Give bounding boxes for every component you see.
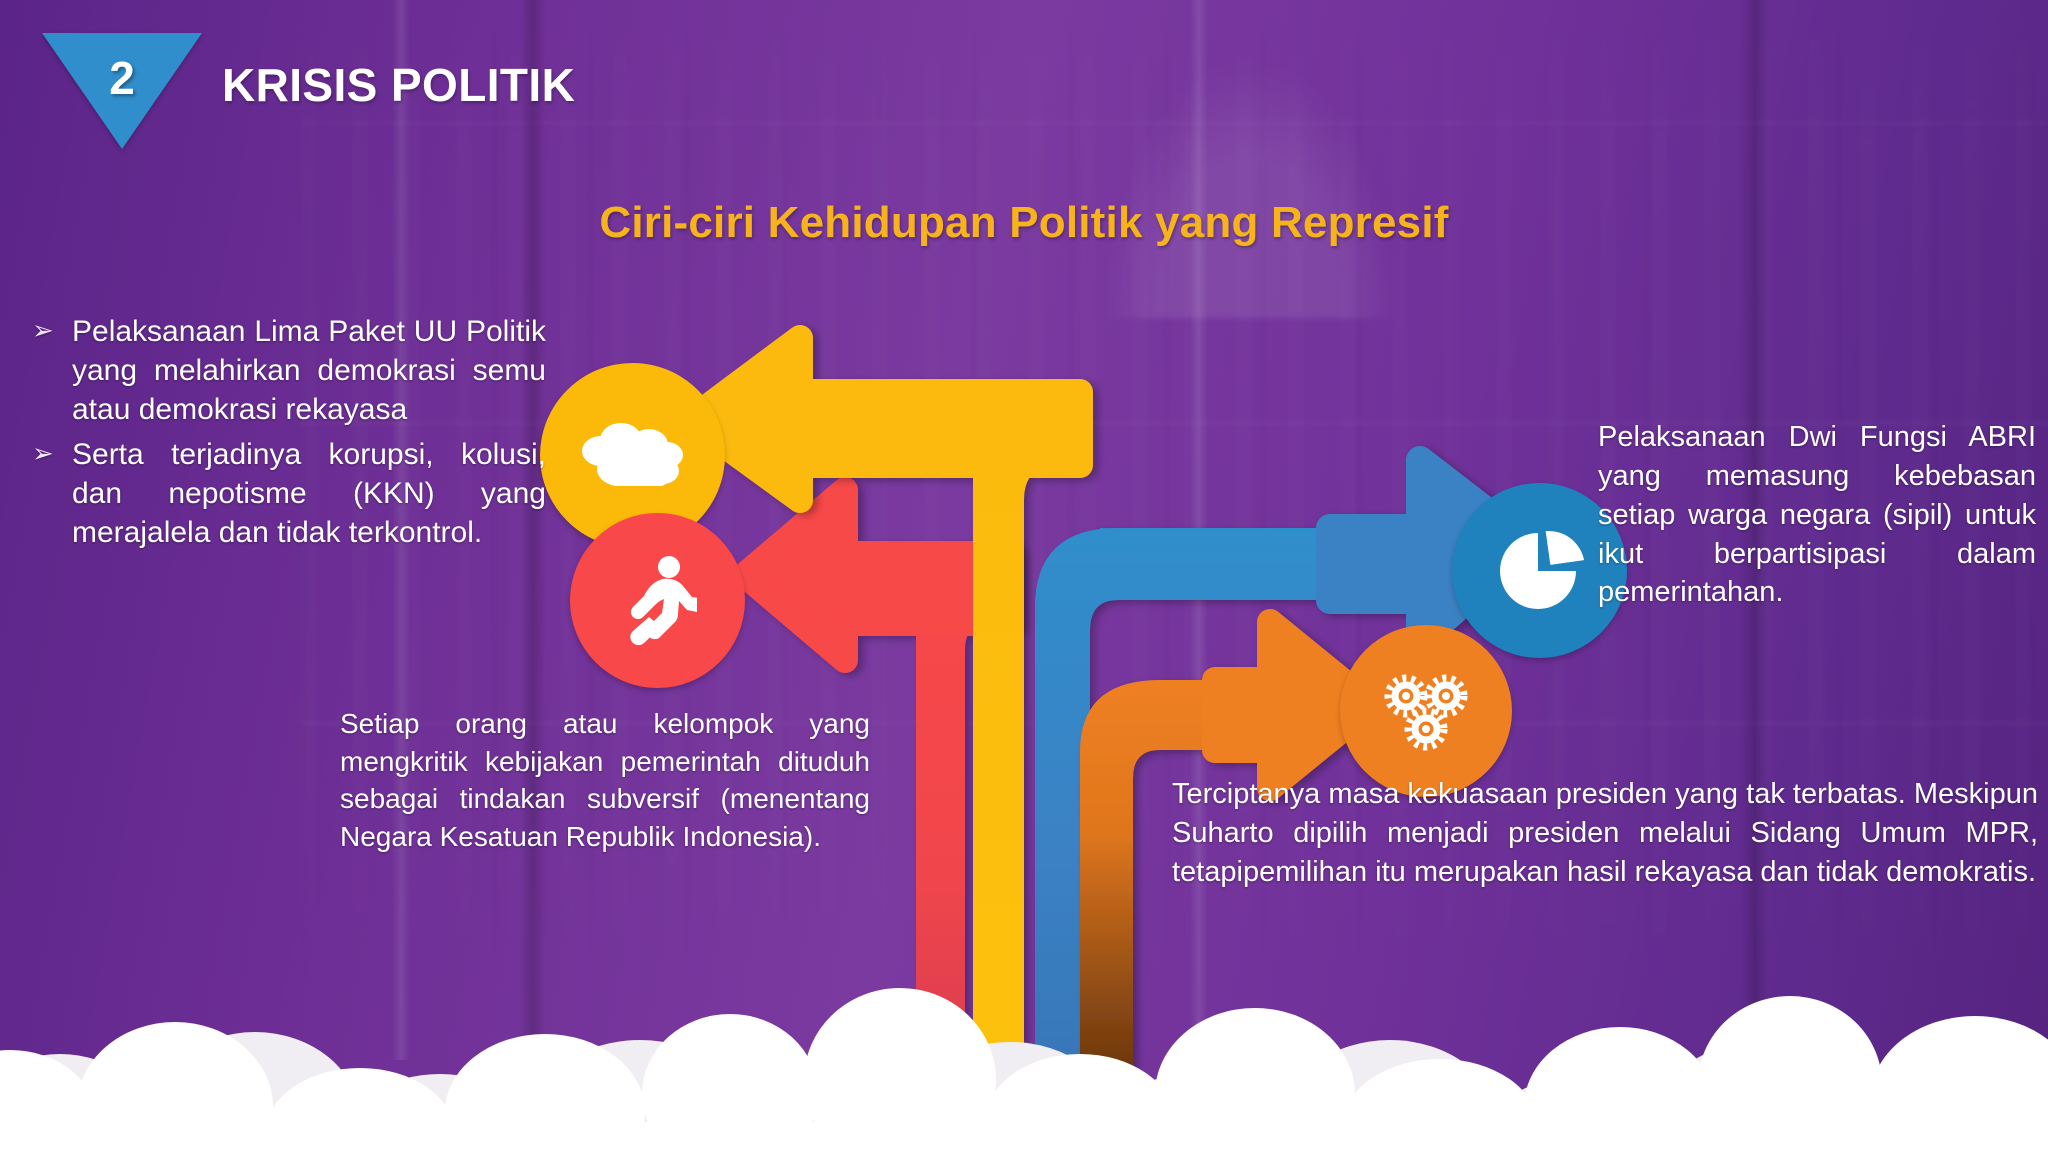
running-person-icon <box>619 555 697 647</box>
list-item: ➢ Serta terjadinya korupsi, kolusi, dan … <box>16 435 546 552</box>
bullet-list: ➢ Pelaksanaan Lima Paket UU Politik yang… <box>16 312 546 558</box>
icon-circle-running-person[interactable] <box>570 513 745 688</box>
callout-bottom-left: Setiap orang atau kelompok yang mengkrit… <box>340 705 870 855</box>
callout-right: Pelaksanaan Dwi Fungsi ABRI yang memasun… <box>1598 418 2036 612</box>
clouds-icon <box>579 417 687 495</box>
pie-chart-icon <box>1494 525 1586 617</box>
cloud-footer-decoration <box>0 972 2048 1152</box>
callout-bottom-right: Terciptanya masa kekuasaan presiden yang… <box>1172 775 2038 892</box>
chevron-bullet-icon: ➢ <box>32 436 54 471</box>
chevron-bullet-icon: ➢ <box>32 313 54 348</box>
list-item: ➢ Pelaksanaan Lima Paket UU Politik yang… <box>16 312 546 429</box>
slide-canvas: 2 KRISIS POLITIK Ciri-ciri Kehidupan Pol… <box>0 0 2048 1152</box>
list-item-text: Pelaksanaan Lima Paket UU Politik yang m… <box>72 315 546 426</box>
gears-icon <box>1376 663 1476 759</box>
list-item-text: Serta terjadinya korupsi, kolusi, dan ne… <box>72 438 546 549</box>
icon-circle-gears[interactable] <box>1340 625 1512 797</box>
